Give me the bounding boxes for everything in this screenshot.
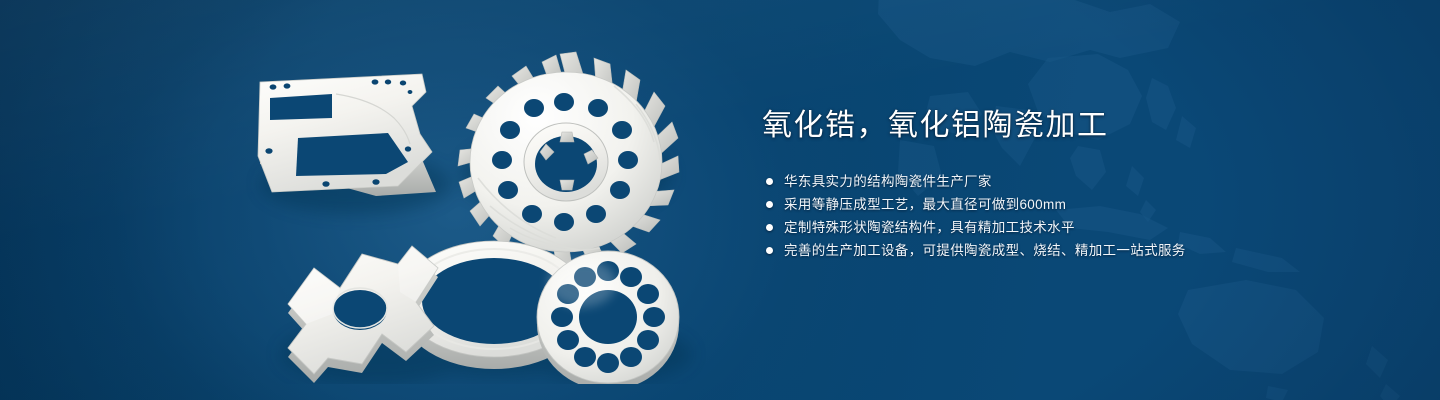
ceramic-perforated-disc-graphic <box>537 251 679 384</box>
feature-text: 定制特殊形状陶瓷结构件，具有精加工技术水平 <box>784 216 1075 239</box>
list-item: 华东具实力的结构陶瓷件生产厂家 <box>766 170 1362 193</box>
bullet-dot-icon <box>766 247 773 254</box>
ceramic-mounting-plate-graphic <box>258 74 436 196</box>
list-item: 完善的生产加工设备，可提供陶瓷成型、烧结、精加工一站式服务 <box>766 239 1362 262</box>
banner-headline: 氧化锆，氧化铝陶瓷加工 <box>762 106 1362 146</box>
feature-list: 华东具实力的结构陶瓷件生产厂家 采用等静压成型工艺，最大直径可做到600mm 定… <box>766 170 1362 262</box>
ceramic-impeller-graphic <box>458 52 679 266</box>
feature-text: 采用等静压成型工艺，最大直径可做到600mm <box>784 193 1066 216</box>
list-item: 定制特殊形状陶瓷结构件，具有精加工技术水平 <box>766 216 1362 239</box>
bullet-dot-icon <box>766 178 773 185</box>
product-showcase <box>236 34 706 384</box>
list-item: 采用等静压成型工艺，最大直径可做到600mm <box>766 193 1362 216</box>
banner-copy: 氧化锆，氧化铝陶瓷加工 华东具实力的结构陶瓷件生产厂家 采用等静压成型工艺，最大… <box>762 106 1362 262</box>
bullet-dot-icon <box>766 201 773 208</box>
feature-text: 完善的生产加工设备，可提供陶瓷成型、烧结、精加工一站式服务 <box>784 239 1186 262</box>
hero-banner: 氧化锆，氧化铝陶瓷加工 华东具实力的结构陶瓷件生产厂家 采用等静压成型工艺，最大… <box>0 0 1440 400</box>
feature-text: 华东具实力的结构陶瓷件生产厂家 <box>784 170 992 193</box>
bullet-dot-icon <box>766 224 773 231</box>
